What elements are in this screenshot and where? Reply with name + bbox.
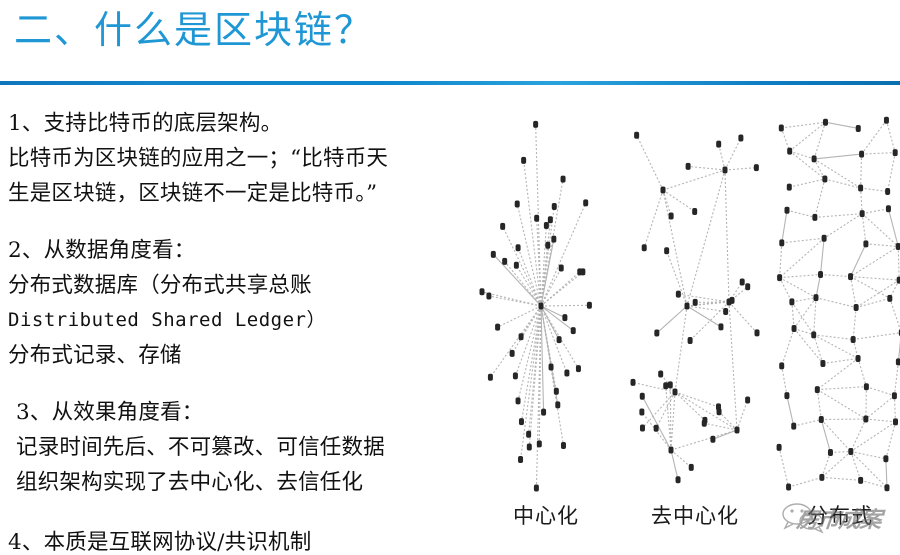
network-diagrams — [470, 110, 900, 555]
paragraph-2: 2、从数据角度看： 分布式数据库（分布式共享总账 Distributed Sha… — [0, 233, 470, 373]
paragraph-3: 3、从效果角度看： 记录时间先后、不可篡改、可信任数据 组织架构实现了去中心化、… — [0, 395, 470, 500]
body-text-block: 1、支持比特币的底层架构。 比特币为区块链的应用之一；“比特币天 生是区块链，区… — [0, 106, 470, 555]
paragraph-1: 1、支持比特币的底层架构。 比特币为区块链的应用之一；“比特币天 生是区块链，区… — [0, 106, 470, 211]
diagram-decentralized — [625, 110, 765, 495]
diagram-centralized — [475, 110, 615, 495]
paragraph-1-line-2: 比特币为区块链的应用之一；“比特币天 — [8, 141, 470, 176]
paragraph-3-line-2: 记录时间先后、不可篡改、可信任数据 — [16, 430, 470, 465]
paragraph-2-line-4: 分布式记录、存储 — [8, 338, 470, 373]
slide-root: 二、什么是区块链？ 1、支持比特币的底层架构。 比特币为区块链的应用之一；“比特… — [0, 0, 900, 555]
paragraph-3-line-1: 3、从效果角度看： — [16, 395, 470, 430]
paragraph-4-line-1: 4、本质是互联网协议/共识机制 — [8, 525, 470, 555]
caption-decentralized: 去中心化 — [640, 500, 750, 530]
paragraph-2-line-3: Distributed Shared Ledger） — [8, 303, 470, 338]
diagram-distributed — [770, 110, 900, 495]
caption-distributed: 分布式 — [790, 500, 890, 530]
paragraph-2-line-2: 分布式数据库（分布式共享总账 — [8, 268, 470, 303]
paragraph-4: 4、本质是互联网协议/共识机制 — [0, 525, 470, 555]
paragraph-1-line-3: 生是区块链，区块链不一定是比特币。” — [8, 176, 470, 211]
header-divider — [0, 81, 900, 85]
decentralized-network-graphic — [625, 110, 765, 495]
paragraph-2-line-1: 2、从数据角度看： — [8, 233, 470, 268]
paragraph-3-line-3: 组织架构实现了去中心化、去信任化 — [16, 465, 470, 500]
page-title: 二、什么是区块链？ — [14, 8, 374, 54]
distributed-network-graphic — [770, 110, 900, 495]
caption-centralized: 中心化 — [498, 500, 594, 530]
paragraph-1-line-1: 1、支持比特币的底层架构。 — [8, 106, 470, 141]
centralized-network-graphic — [475, 110, 615, 495]
